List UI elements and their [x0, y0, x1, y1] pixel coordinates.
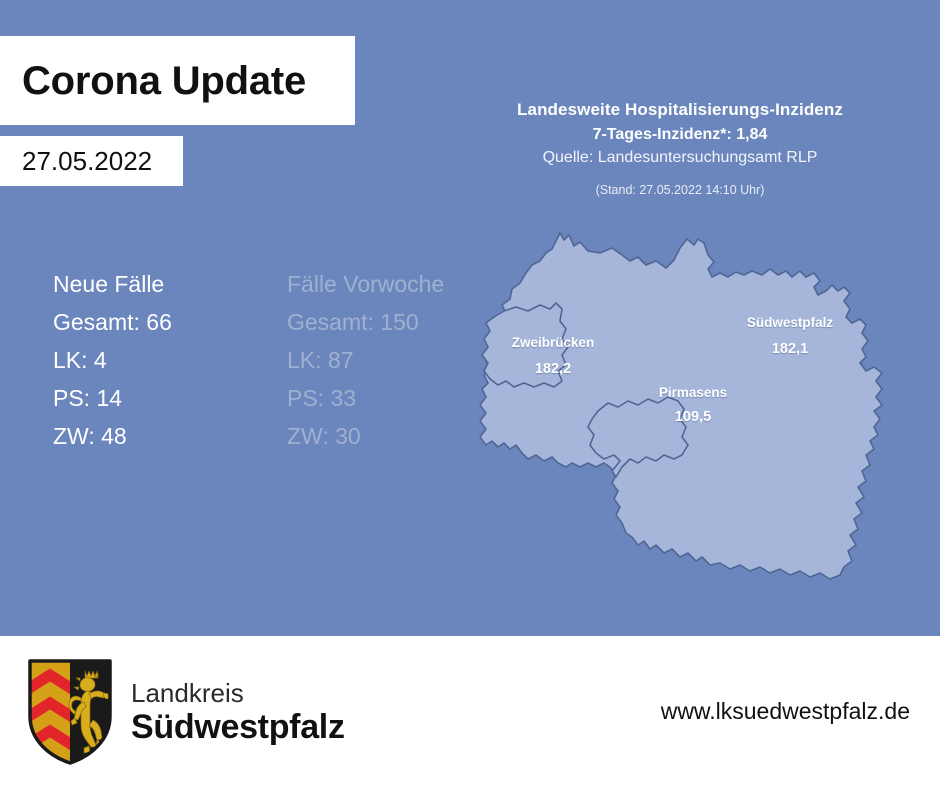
stats-previous-lk: LK: 87	[287, 341, 487, 379]
hospitalization-timestamp: (Stand: 27.05.2022 14:10 Uhr)	[455, 183, 905, 197]
stats-current-total: Gesamt: 66	[53, 303, 233, 341]
stats-current-ps: PS: 14	[53, 379, 233, 417]
stats-previous-zw: ZW: 30	[287, 417, 487, 455]
hospitalization-incidence: 7-Tages-Inzidenz*: 1,84	[455, 126, 905, 144]
report-date: 27.05.2022	[0, 148, 152, 174]
stats-column-current: Neue Fälle Gesamt: 66 LK: 4 PS: 14 ZW: 4…	[53, 265, 233, 455]
stats-current-lk: LK: 4	[53, 341, 233, 379]
coat-of-arms-icon	[27, 658, 113, 766]
map-label-pirmasens: Pirmasens 109,5	[613, 385, 773, 425]
hospitalization-source: Quelle: Landesuntersuchungsamt RLP	[455, 149, 905, 167]
stats-previous-ps: PS: 33	[287, 379, 487, 417]
date-banner: 27.05.2022	[0, 136, 183, 186]
logo-line-suedwestpfalz: Südwestpfalz	[131, 710, 345, 744]
stats-column-previous: Fälle Vorwoche Gesamt: 150 LK: 87 PS: 33…	[287, 265, 487, 455]
footer: Landkreis Südwestpfalz www.lksuedwestpfa…	[0, 636, 940, 788]
map-label-name: Südwestpfalz	[700, 315, 880, 330]
corona-update-poster: Corona Update 27.05.2022 Landesweite Hos…	[0, 0, 940, 788]
case-statistics: Neue Fälle Gesamt: 66 LK: 4 PS: 14 ZW: 4…	[53, 265, 487, 455]
logo-line-landkreis: Landkreis	[131, 680, 345, 706]
title-banner: Corona Update	[0, 36, 355, 125]
stats-previous-total: Gesamt: 150	[287, 303, 487, 341]
hospitalization-header: Landesweite Hospitalisierungs-Inzidenz 7…	[455, 100, 905, 197]
website-url[interactable]: www.lksuedwestpfalz.de	[661, 698, 910, 725]
stats-previous-heading: Fälle Vorwoche	[287, 265, 487, 303]
logo-wordmark: Landkreis Südwestpfalz	[131, 680, 345, 744]
map-label-name: Pirmasens	[613, 385, 773, 400]
map-label-value: 182,1	[700, 341, 880, 357]
map-label-value: 109,5	[613, 409, 773, 425]
page-title: Corona Update	[0, 61, 306, 101]
map-label-suedwestpfalz: Südwestpfalz 182,1	[700, 315, 880, 357]
map-label-name: Zweibrücken	[473, 335, 633, 350]
stats-current-zw: ZW: 48	[53, 417, 233, 455]
hospitalization-title: Landesweite Hospitalisierungs-Inzidenz	[455, 100, 905, 120]
stats-current-heading: Neue Fälle	[53, 265, 233, 303]
incidence-map: Zweibrücken 182,2 Südwestpfalz 182,1 Pir…	[470, 215, 910, 625]
map-label-value: 182,2	[473, 361, 633, 377]
map-label-zweibruecken: Zweibrücken 182,2	[473, 335, 633, 377]
district-logo: Landkreis Südwestpfalz	[27, 658, 345, 766]
